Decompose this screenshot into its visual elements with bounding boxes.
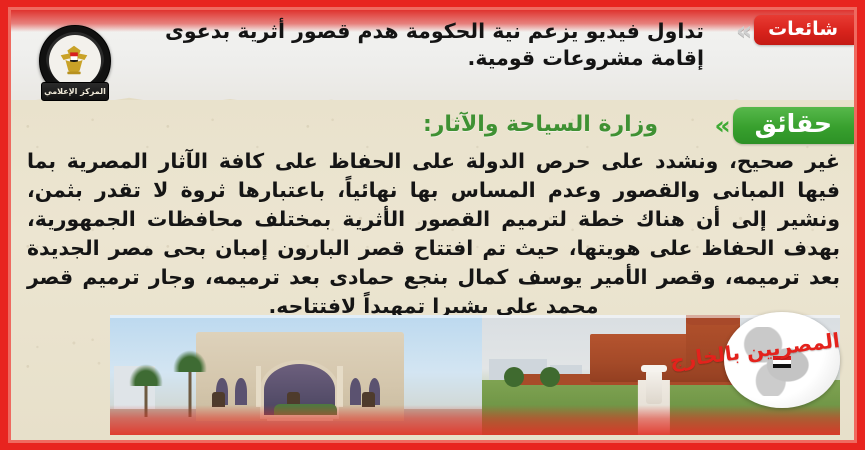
chevron-left-green-icon: « xyxy=(711,113,733,138)
fact-body-text: غير صحيح، ونشدد على حرص الدولة على الحفا… xyxy=(27,147,840,321)
eagle-of-saladin-icon xyxy=(55,42,93,80)
watermark-logo: المصريين بالخارج xyxy=(724,312,840,408)
palace-column xyxy=(256,366,261,407)
infographic-inner-frame: « شائعات المركز الإعلامي تداول فيديو يزع… xyxy=(8,7,857,443)
palace-door xyxy=(362,392,375,407)
palm-tree xyxy=(173,359,207,417)
palm-tree xyxy=(132,377,160,417)
tree xyxy=(504,367,524,387)
headline-text: تداول فيديو يزعم نية الحكومة هدم قصور أث… xyxy=(161,18,704,72)
garden-urn xyxy=(646,370,662,404)
facts-badge-row: « حقائق xyxy=(711,107,854,143)
cabinet-media-center-logo: المركز الإعلامي xyxy=(33,22,115,104)
palace-window xyxy=(235,378,246,405)
photo-top-edge xyxy=(110,315,482,318)
palace-column xyxy=(337,366,342,407)
palace-window xyxy=(350,378,361,405)
tree xyxy=(540,367,560,387)
infographic-card: « شائعات المركز الإعلامي تداول فيديو يزع… xyxy=(0,0,865,450)
hedge xyxy=(274,404,337,415)
palace-door xyxy=(212,392,225,407)
status-badge-rumor: شائعات xyxy=(754,15,854,45)
rumor-badge-row: « شائعات xyxy=(732,15,854,45)
status-badge-facts: حقائق xyxy=(733,107,854,144)
chevron-left-icon: « xyxy=(732,18,754,43)
logo-name-plate: المركز الإعلامي xyxy=(41,82,109,101)
logo-organization-label: المركز الإعلامي xyxy=(44,87,106,96)
photo-prince-yusuf-kamal-palace xyxy=(110,315,482,435)
source-ministry-label: وزارة السياحة والآثار: xyxy=(423,112,658,137)
